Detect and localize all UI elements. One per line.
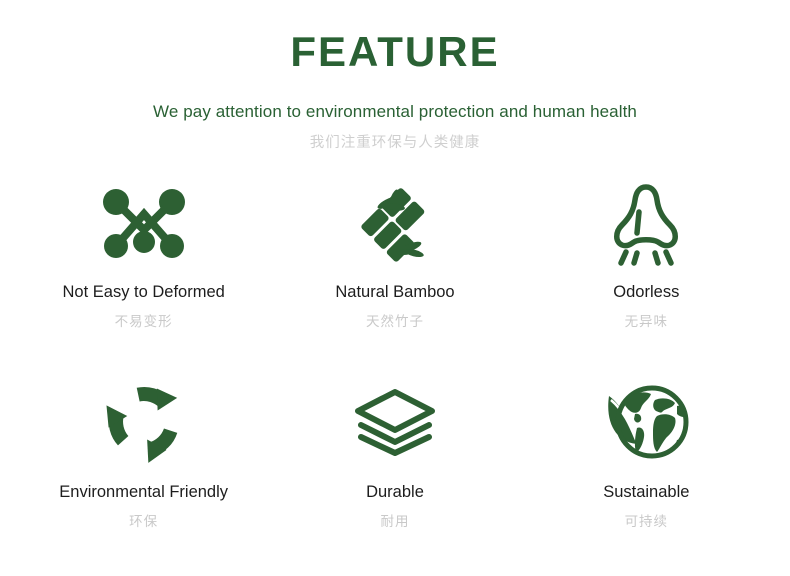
subtitle-chinese: 我们注重环保与人类健康	[0, 135, 790, 152]
feature-label-chinese: 耐用	[380, 514, 409, 530]
subtitle-english: We pay attention to environmental protec…	[0, 102, 790, 122]
feature-item-durable: Durable 耐用	[269, 372, 520, 568]
feature-label: Durable	[366, 483, 424, 503]
feature-item-natural-bamboo: Natural Bamboo 天然竹子	[269, 176, 520, 372]
feature-item-odorless: Odorless 无异味	[521, 176, 772, 372]
feature-section: FEATURE We pay attention to environmenta…	[0, 0, 790, 576]
feature-item-not-easy-to-deformed: Not Easy to Deformed 不易变形	[18, 176, 269, 372]
feature-label-chinese: 环保	[129, 514, 158, 530]
feature-label: Environmental Friendly	[59, 483, 228, 503]
recycle-arrows-icon	[102, 372, 186, 472]
feature-label-chinese: 无异味	[625, 314, 669, 330]
feature-label: Natural Bamboo	[335, 283, 454, 303]
feature-label-chinese: 天然竹子	[366, 314, 424, 330]
feature-grid: Not Easy to Deformed 不易变形	[0, 176, 790, 568]
globe-leaf-icon	[603, 372, 689, 472]
bamboo-icon	[355, 176, 435, 272]
nose-odorless-icon	[610, 176, 682, 272]
molecule-network-icon	[102, 176, 186, 272]
feature-item-sustainable: Sustainable 可持续	[521, 372, 772, 568]
feature-label: Not Easy to Deformed	[63, 283, 225, 303]
feature-label: Odorless	[613, 283, 679, 303]
feature-label-chinese: 可持续	[625, 514, 669, 530]
feature-label-chinese: 不易变形	[115, 314, 173, 330]
page-title: FEATURE	[0, 30, 790, 74]
stacked-layers-icon	[353, 372, 437, 472]
section-header: FEATURE We pay attention to environmenta…	[0, 0, 790, 153]
feature-item-environmental-friendly: Environmental Friendly 环保	[18, 372, 269, 568]
feature-label: Sustainable	[603, 483, 689, 503]
